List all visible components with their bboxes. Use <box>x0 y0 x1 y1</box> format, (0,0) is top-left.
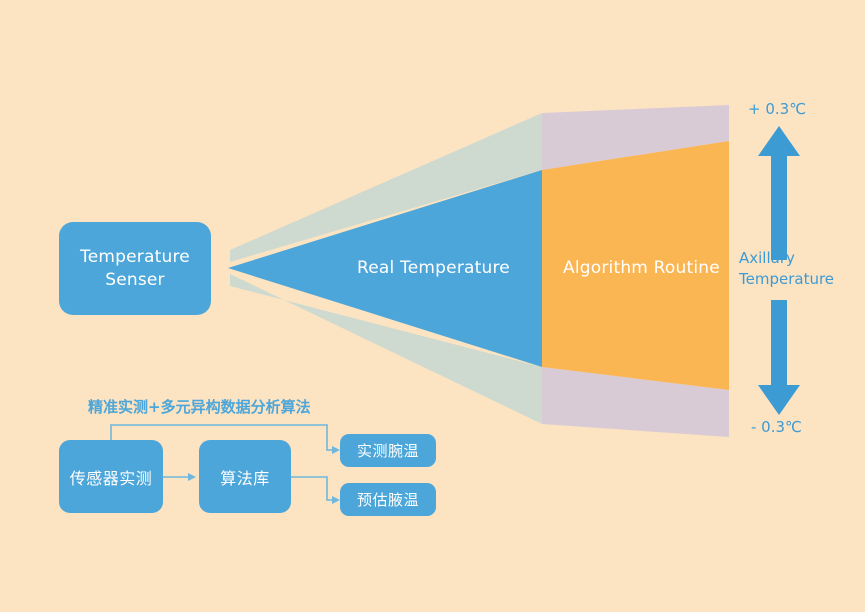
axillary-temperature-label: Axillary Temperature <box>739 248 834 290</box>
flow-node-sensor-measure[interactable]: 传感器实测 <box>59 440 163 513</box>
real-temperature-label: Real Temperature <box>357 258 510 278</box>
axillary-label-line1: Axillary <box>739 249 795 267</box>
flow-node-measured-wrist-temp[interactable]: 实测腕温 <box>340 434 436 467</box>
flow-diagram-title: 精准实测+多元异构数据分析算法 <box>88 396 311 417</box>
algorithm-routine-label: Algorithm Routine <box>563 258 720 278</box>
flow-node-algorithm-library[interactable]: 算法库 <box>199 440 291 513</box>
sensor-label-line2: Senser <box>105 270 165 290</box>
axillary-down-arrow <box>758 300 800 415</box>
flow-node-estimated-axillary-temp[interactable]: 预估腋温 <box>340 483 436 516</box>
axillary-up-arrow <box>758 126 800 260</box>
tolerance-upper-label: + 0.3℃ <box>748 100 806 118</box>
temperature-sensor-label: Temperature Senser <box>80 246 190 292</box>
tolerance-lower-label: - 0.3℃ <box>751 418 802 436</box>
diagram-canvas: Temperature Senser Real Temperature Algo… <box>0 0 865 612</box>
axillary-label-line2: Temperature <box>739 270 834 288</box>
temperature-sensor-box[interactable]: Temperature Senser <box>59 222 211 315</box>
sensor-label-line1: Temperature <box>80 247 190 267</box>
